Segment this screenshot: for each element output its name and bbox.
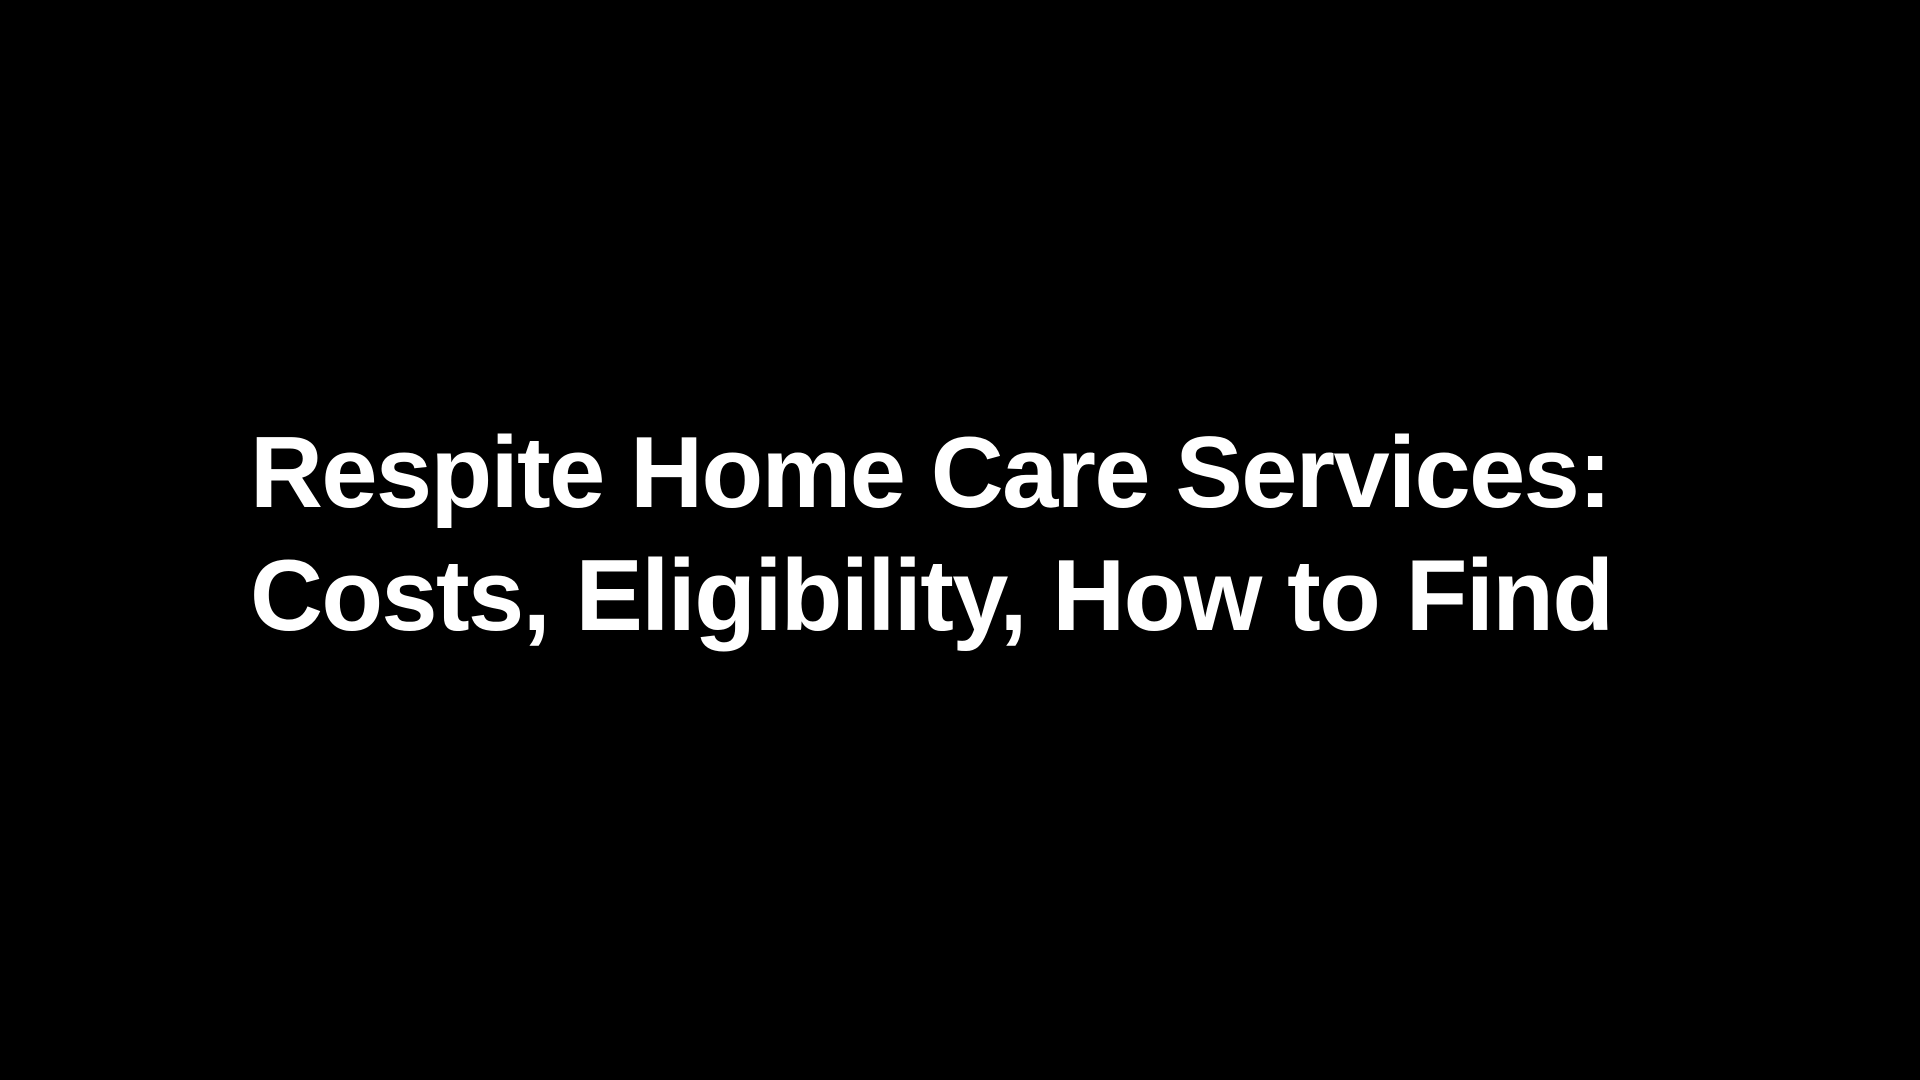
page-title-line-1: Respite Home Care Services: bbox=[250, 412, 1690, 535]
title-card: Respite Home Care Services: Costs, Eligi… bbox=[0, 0, 1920, 1080]
page-title-line-2: Costs, Eligibility, How to Find bbox=[250, 535, 1690, 658]
page-title: Respite Home Care Services: Costs, Eligi… bbox=[250, 412, 1690, 658]
